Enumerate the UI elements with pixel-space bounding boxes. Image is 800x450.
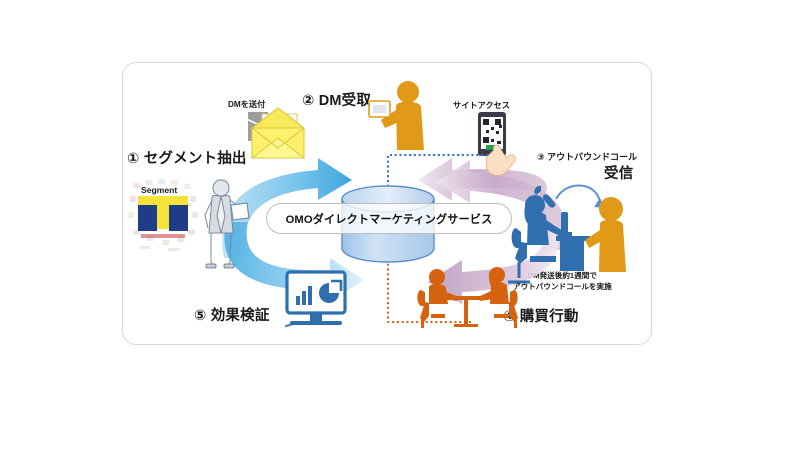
service-pill-label: OMOダイレクトマーケティングサービス: [286, 211, 493, 227]
diagram-canvas: OMOダイレクトマーケティングサービス: [0, 0, 800, 450]
service-pill: OMOダイレクトマーケティングサービス: [266, 203, 512, 234]
